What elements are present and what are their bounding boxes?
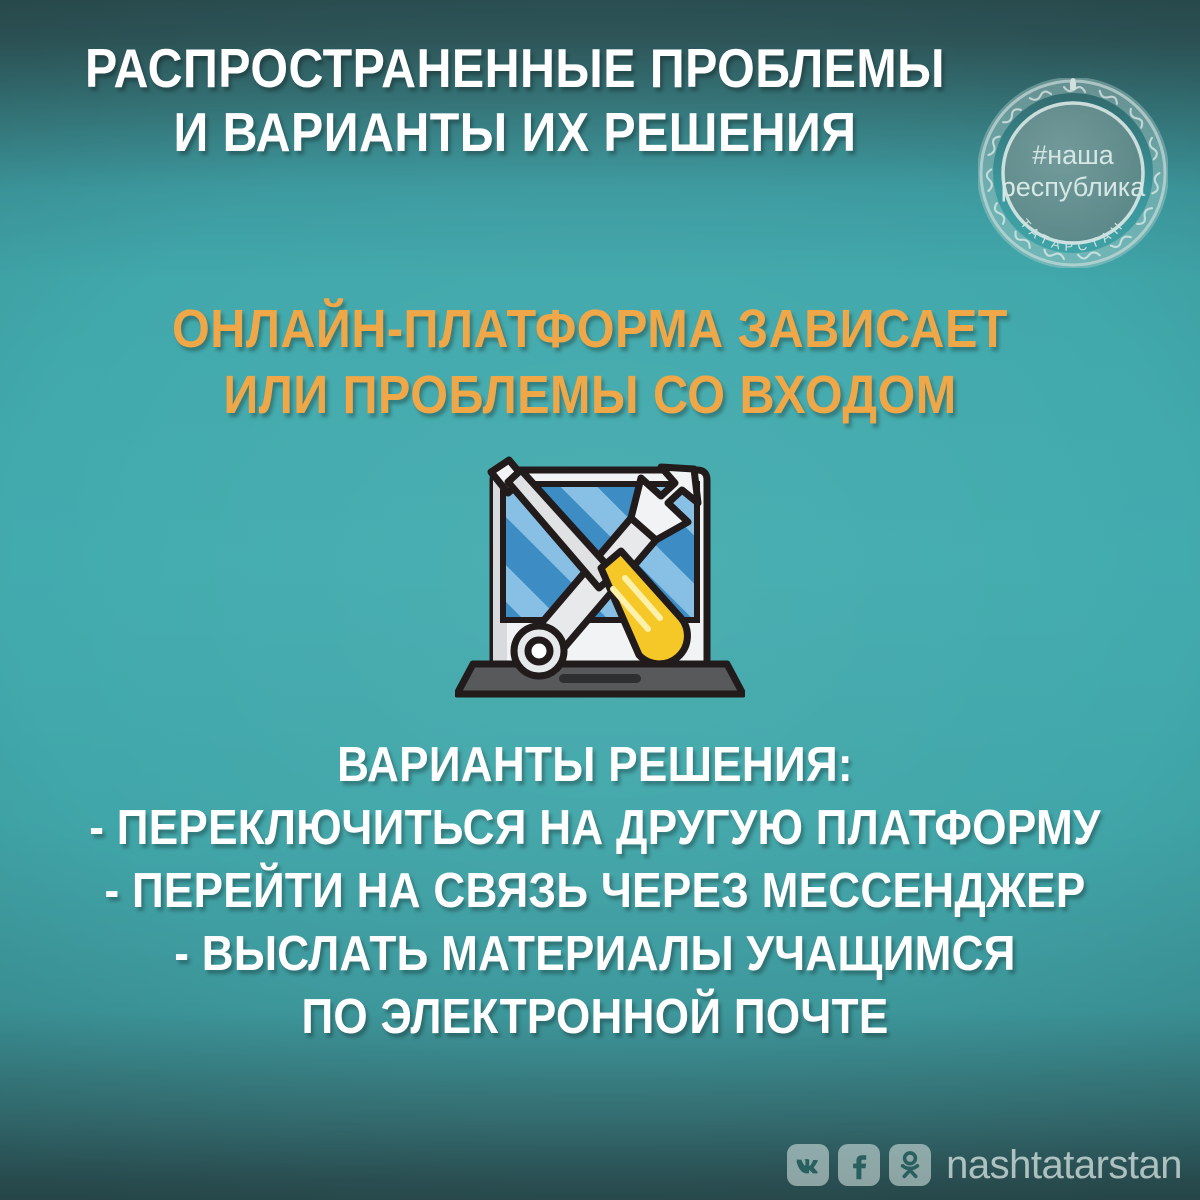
headline: ОНЛАЙН-ПЛАТФОРМА ЗАВИСАЕТ ИЛИ ПРОБЛЕМЫ С… (0, 296, 1180, 428)
nasha-respublika-badge: #наша республика ТАТАРСТАН (978, 78, 1168, 268)
headline-line-2: ИЛИ ПРОБЛЕМЫ СО ВХОДОМ (59, 362, 1121, 428)
solutions-block: ВАРИАНТЫ РЕШЕНИЯ: - ПЕРЕКЛЮЧИТЬСЯ НА ДРУ… (0, 734, 1190, 1049)
solution-line-4: ПО ЭЛЕКТРОННОЙ ПОЧТЕ (60, 986, 1131, 1049)
laptop-touchpad-notch (559, 674, 641, 683)
badge-word: республика (1001, 172, 1146, 202)
vk-icon[interactable] (787, 1144, 829, 1186)
solution-line-2: - ПЕРЕЙТИ НА СВЯЗЬ ЧЕРЕЗ МЕССЕНДЖЕР (60, 860, 1131, 923)
badge-hashtag: #наша (1032, 140, 1115, 170)
badge-crown-icon (1070, 78, 1076, 90)
solution-line-1: - ПЕРЕКЛЮЧИТЬСЯ НА ДРУГУЮ ПЛАТФОРМУ (60, 797, 1131, 860)
solution-line-3: - ВЫСЛАТЬ МАТЕРИАЛЫ УЧАЩИМСЯ (60, 923, 1131, 986)
odnoklassniki-icon[interactable] (889, 1144, 931, 1186)
solutions-heading: ВАРИАНТЫ РЕШЕНИЯ: (60, 734, 1131, 797)
page-title: РАСПРОСТРАНЕННЫЕ ПРОБЛЕМЫ И ВАРИАНТЫ ИХ … (0, 36, 1030, 164)
poster-canvas: РАСПРОСТРАНЕННЫЕ ПРОБЛЕМЫ И ВАРИАНТЫ ИХ … (0, 0, 1200, 1200)
footer-handle[interactable]: nashtatarstan (946, 1145, 1182, 1185)
title-line-1: РАСПРОСТРАНЕННЫЕ ПРОБЛЕМЫ (62, 36, 968, 100)
footer-social-bar: nashtatarstan (787, 1144, 1182, 1186)
laptop-base (457, 664, 743, 694)
laptop-with-tools-illustration (455, 452, 745, 702)
title-line-2: И ВАРИАНТЫ ИХ РЕШЕНИЯ (62, 100, 968, 164)
headline-line-1: ОНЛАЙН-ПЛАТФОРМА ЗАВИСАЕТ (59, 296, 1121, 362)
facebook-icon[interactable] (838, 1144, 880, 1186)
